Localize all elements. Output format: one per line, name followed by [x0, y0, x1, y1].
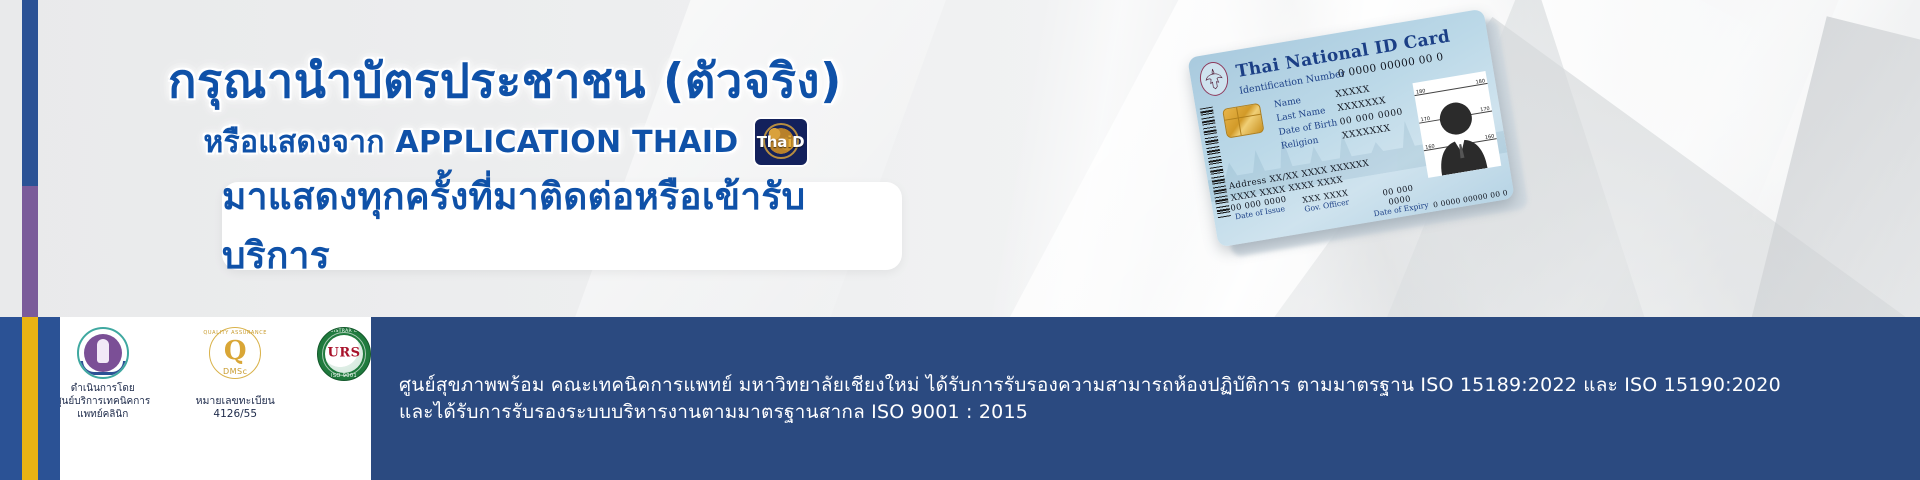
logo-block-dmsc: QUALITY ASSURANCE Q DMSc หมายเลขทะเบียน …	[191, 327, 279, 421]
dmsc-sub-text: DMSc	[223, 367, 248, 376]
dmsc-q-letter: Q	[224, 336, 247, 366]
headline-sub: หรือแสดงจาก APPLICATION THAID	[203, 119, 738, 166]
photo-silhouette-icon	[1426, 92, 1492, 176]
footer-rail-blue	[0, 317, 22, 480]
logo-block-urs: UNITED REGISTRAR OF SYSTEMS URS ISO 9001	[317, 327, 371, 381]
garuda-emblem-icon	[1197, 60, 1230, 98]
card-photo-area: 180 170 160 180 170 160	[1412, 71, 1501, 178]
instruction-pill: มาแสดงทุกครั้งที่มาติดต่อหรือเข้ารับบริก…	[222, 182, 902, 270]
dmsc-caption: หมายเลขทะเบียน 4126/55	[191, 395, 279, 421]
card-expiry-block: 00 000 0000 Date of Expiry	[1369, 181, 1429, 219]
urs-top-text: UNITED REGISTRAR OF SYSTEMS	[317, 329, 371, 334]
footer-text-panel: ศูนย์สุขภาพพร้อม คณะเทคนิคการแพทย์ มหาวิ…	[371, 317, 1920, 480]
footer-logo-strip: ดำเนินการโดย ศูนย์บริการเทคนิคการแพทย์คล…	[0, 317, 371, 480]
amscmu-emblem-icon	[77, 327, 129, 379]
thaid-text-suffix: D	[792, 133, 804, 151]
left-accent-rail-purple	[22, 186, 38, 318]
card-officer-block: XXX XXXX Gov. Officer	[1301, 187, 1350, 213]
thaid-app-logo: ThaiD	[755, 119, 807, 165]
footer-line-1: ศูนย์สุขภาพพร้อม คณะเทคนิคการแพทย์ มหาวิ…	[399, 372, 1920, 399]
footer-line-2: และได้รับการรับรองระบบบริหารงานตามมาตรฐา…	[399, 399, 1920, 426]
footer-bar: ดำเนินการโดย ศูนย์บริการเทคนิคการแพทย์คล…	[0, 317, 1920, 480]
headline-block: กรุณานำบัตรประชาชน (ตัวจริง) หรือแสดงจาก…	[0, 56, 1010, 166]
id-card-notice-banner: กรุณานำบัตรประชาชน (ตัวจริง) หรือแสดงจาก…	[0, 0, 1920, 480]
card-chip-icon	[1222, 103, 1264, 139]
instruction-pill-text: มาแสดงทุกครั้งที่มาติดต่อหรือเข้ารับบริก…	[222, 167, 902, 285]
footer-rail-gold	[22, 317, 38, 480]
card-ruler-tick: 180	[1475, 78, 1485, 85]
footer-rail-blue-secondary	[38, 317, 60, 480]
garuda-glyph	[1203, 67, 1224, 92]
urs-iso9001-emblem-icon: UNITED REGISTRAR OF SYSTEMS URS ISO 9001	[317, 327, 371, 381]
amscmu-caption: ดำเนินการโดย ศูนย์บริการเทคนิคการแพทย์คล…	[52, 382, 153, 421]
card-ruler-tick: 180	[1416, 88, 1426, 95]
subheadline-row: หรือแสดงจาก APPLICATION THAID ThaiD	[0, 119, 1010, 166]
thaid-text-prefix: Tha	[757, 133, 787, 151]
logo-block-amscmu: ดำเนินการโดย ศูนย์บริการเทคนิคการแพทย์คล…	[52, 327, 153, 421]
thaid-logo-text: ThaiD	[757, 133, 805, 151]
urs-iso-text: ISO 9001	[331, 373, 357, 379]
dmsc-quality-emblem-icon: QUALITY ASSURANCE Q DMSc	[209, 327, 261, 379]
thai-id-card-illustration: Thai National ID Card Identification Num…	[1185, 18, 1605, 308]
headline-main: กรุณานำบัตรประชาชน (ตัวจริง)	[0, 56, 1010, 109]
urs-letters: URS	[327, 345, 360, 360]
